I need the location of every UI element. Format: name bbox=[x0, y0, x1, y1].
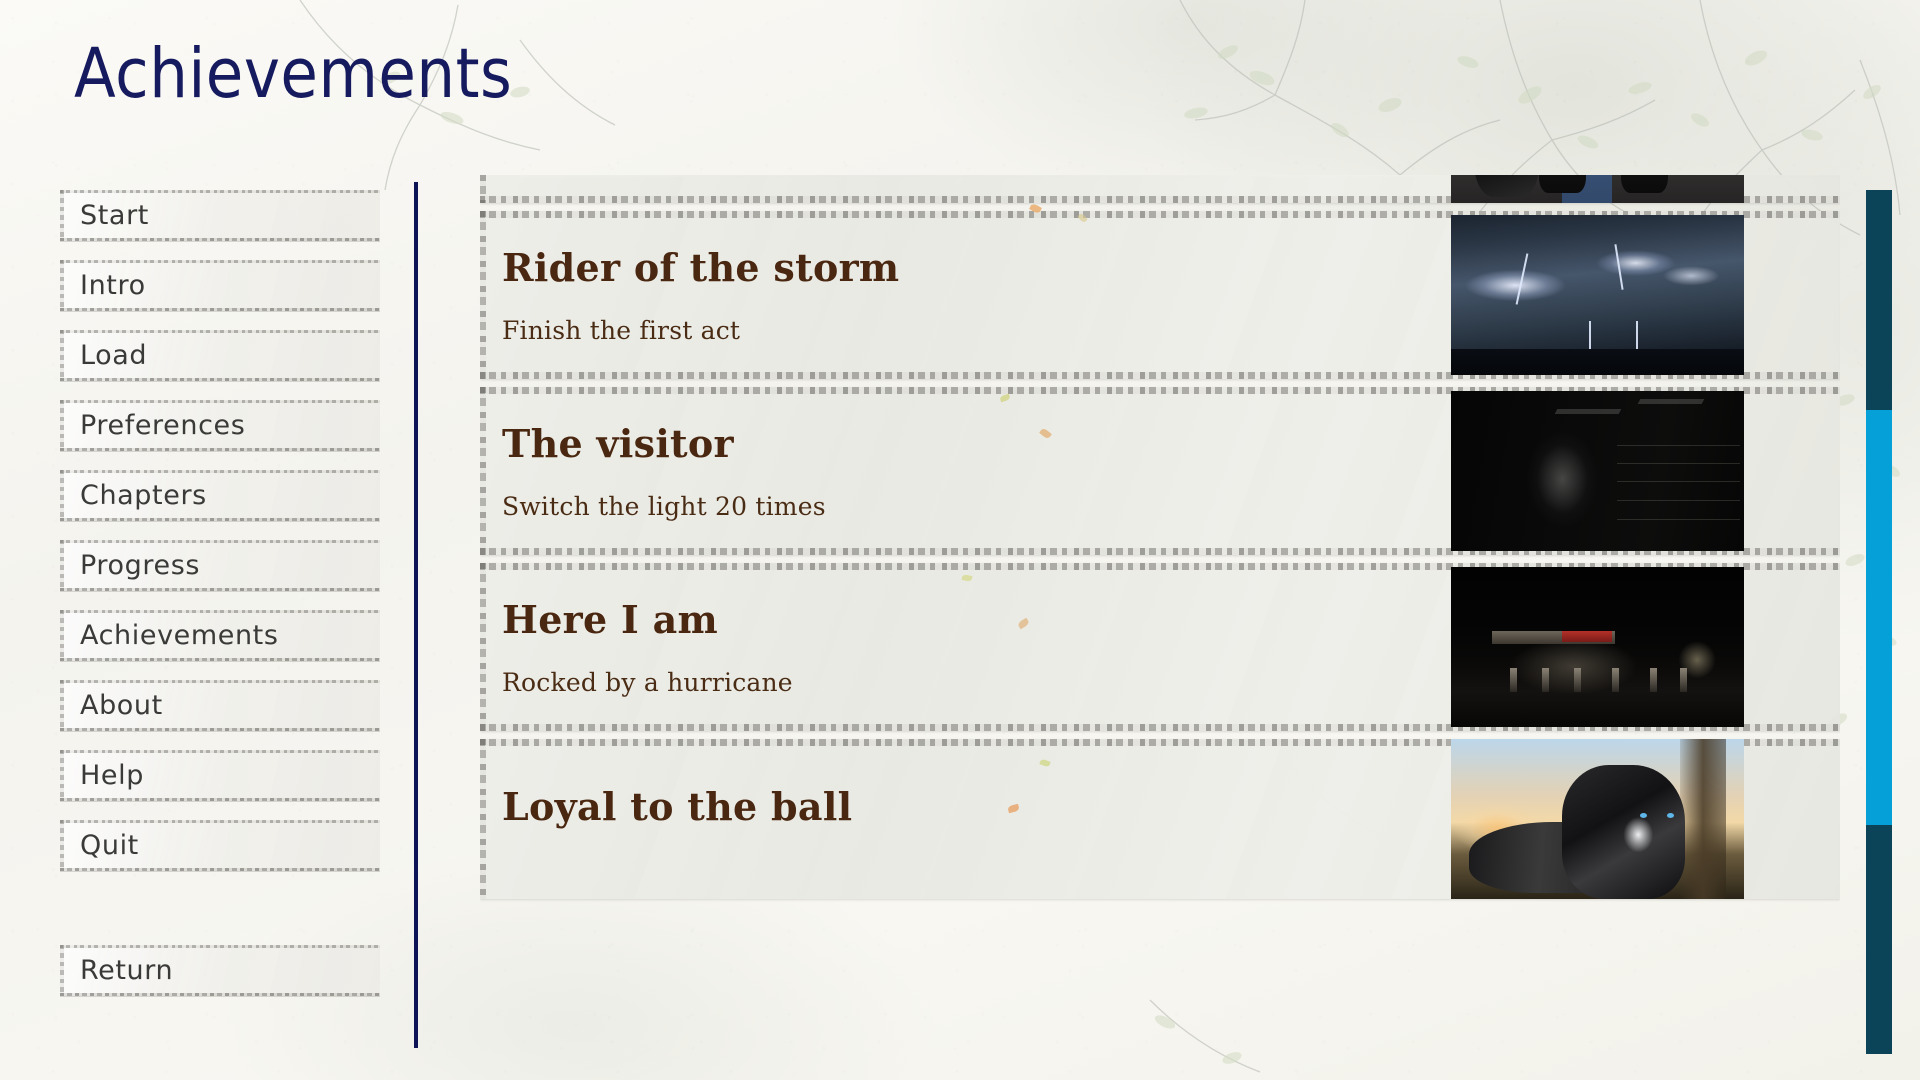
ceiling-light-shape bbox=[1637, 399, 1704, 404]
achievement-card-the-visitor[interactable]: The visitor Switch the light 20 times bbox=[480, 387, 1840, 555]
torn-edge-icon bbox=[60, 540, 64, 591]
sidebar-content-divider bbox=[414, 182, 418, 1048]
sidebar-item-label: Start bbox=[80, 200, 149, 231]
achievement-description: Finish the first act bbox=[502, 316, 1451, 345]
scrollbar-track[interactable] bbox=[1866, 190, 1892, 1054]
achievement-text: The visitor Switch the light 20 times bbox=[480, 387, 1451, 555]
achievement-description: Rocked by a hurricane bbox=[502, 668, 1451, 697]
shelf-line bbox=[1617, 481, 1740, 482]
dog-eye-shape bbox=[1667, 813, 1674, 818]
achievement-thumbnail-husky-dog-sunset bbox=[1451, 739, 1744, 899]
achievement-title: Rider of the storm bbox=[502, 245, 1451, 290]
achievement-thumbnail-lightning-storm bbox=[1451, 215, 1744, 375]
page-title: Achievements bbox=[74, 40, 512, 108]
sidebar-item-intro[interactable]: Intro bbox=[60, 260, 380, 311]
return-button[interactable]: Return bbox=[60, 945, 380, 996]
sidebar-item-quit[interactable]: Quit bbox=[60, 820, 380, 871]
torn-edge-icon bbox=[60, 260, 64, 311]
sidebar-item-label: About bbox=[80, 690, 163, 721]
shoe-shape bbox=[1621, 175, 1668, 193]
achievement-card-here-i-am[interactable]: Here I am Rocked by a hurricane bbox=[480, 563, 1840, 731]
sidebar-spacer bbox=[60, 890, 380, 945]
torn-edge-icon bbox=[60, 750, 64, 801]
fuel-pump-shape bbox=[1612, 668, 1619, 692]
fuel-pump-shape bbox=[1542, 668, 1549, 692]
fuel-pump-shape bbox=[1650, 668, 1657, 692]
achievement-card-partial[interactable] bbox=[480, 175, 1840, 203]
achievement-thumbnail-dog-on-leash bbox=[1451, 175, 1744, 203]
lightning-bolt-shape bbox=[1614, 244, 1623, 290]
sidebar-item-about[interactable]: About bbox=[60, 680, 380, 731]
sidebar-item-label: Quit bbox=[80, 830, 139, 861]
fuel-pump-shape bbox=[1510, 668, 1517, 692]
shelf-line bbox=[1617, 445, 1740, 446]
tree-trunk-shape bbox=[1680, 739, 1727, 899]
torn-edge-icon bbox=[60, 610, 64, 661]
sidebar-item-help[interactable]: Help bbox=[60, 750, 380, 801]
sidebar-item-chapters[interactable]: Chapters bbox=[60, 470, 380, 521]
achievement-text: Rider of the storm Finish the first act bbox=[480, 211, 1451, 379]
torn-edge-icon bbox=[60, 190, 64, 241]
achievement-thumbnail-abandoned-gas-station bbox=[1451, 567, 1744, 727]
achievement-text: Here I am Rocked by a hurricane bbox=[480, 563, 1451, 731]
sidebar-item-start[interactable]: Start bbox=[60, 190, 380, 241]
achievement-title: Loyal to the ball bbox=[502, 784, 1451, 829]
sidebar-item-label: Load bbox=[80, 340, 147, 371]
shelf-line bbox=[1617, 500, 1740, 501]
sidebar-item-label: Achievements bbox=[80, 620, 279, 651]
achievement-text: Loyal to the ball bbox=[480, 750, 1451, 889]
sidebar-item-label: Preferences bbox=[80, 410, 245, 441]
fuel-pump-shape bbox=[1680, 668, 1687, 692]
torn-edge-icon bbox=[60, 400, 64, 451]
achievement-title: The visitor bbox=[502, 421, 1451, 466]
torn-edge-icon bbox=[60, 680, 64, 731]
achievement-card-loyal-to-the-ball[interactable]: Loyal to the ball bbox=[480, 739, 1840, 899]
sidebar-item-label: Intro bbox=[80, 270, 146, 301]
lightning-bolt-shape bbox=[1636, 321, 1638, 351]
sidebar-item-preferences[interactable]: Preferences bbox=[60, 400, 380, 451]
achievement-description: Switch the light 20 times bbox=[502, 492, 1451, 521]
sidebar-item-progress[interactable]: Progress bbox=[60, 540, 380, 591]
sidebar-item-label: Help bbox=[80, 760, 144, 791]
sidebar-menu: Start Intro Load Preferences Chapters Pr… bbox=[60, 190, 380, 1015]
sidebar-item-achievements[interactable]: Achievements bbox=[60, 610, 380, 661]
achievement-title: Here I am bbox=[502, 597, 1451, 642]
shelf-line bbox=[1617, 463, 1740, 464]
dog-head-shape bbox=[1474, 175, 1538, 197]
achievement-thumbnail-dark-store-interior bbox=[1451, 391, 1744, 551]
shoe-shape bbox=[1539, 175, 1586, 193]
torn-edge-icon bbox=[60, 945, 64, 996]
dog-head-shape bbox=[1562, 765, 1685, 899]
torn-edge-icon bbox=[60, 820, 64, 871]
dog-eye-shape bbox=[1640, 813, 1647, 818]
sidebar-item-load[interactable]: Load bbox=[60, 330, 380, 381]
torn-edge-icon bbox=[60, 470, 64, 521]
sidebar-item-label: Progress bbox=[80, 550, 200, 581]
achievement-text bbox=[480, 175, 1451, 203]
scrollbar-thumb[interactable] bbox=[1866, 410, 1892, 825]
achievements-list: Rider of the storm Finish the first act … bbox=[480, 175, 1840, 1055]
return-button-label: Return bbox=[80, 955, 173, 986]
sidebar-item-label: Chapters bbox=[80, 480, 207, 511]
fuel-pump-shape bbox=[1574, 668, 1581, 692]
shelf-line bbox=[1617, 519, 1740, 520]
lightning-bolt-shape bbox=[1516, 254, 1529, 305]
horizon-shape bbox=[1451, 349, 1744, 375]
torn-edge-icon bbox=[60, 330, 64, 381]
station-sign-shape bbox=[1562, 631, 1612, 642]
achievement-card-rider-of-the-storm[interactable]: Rider of the storm Finish the first act bbox=[480, 211, 1840, 379]
ceiling-light-shape bbox=[1555, 409, 1622, 414]
